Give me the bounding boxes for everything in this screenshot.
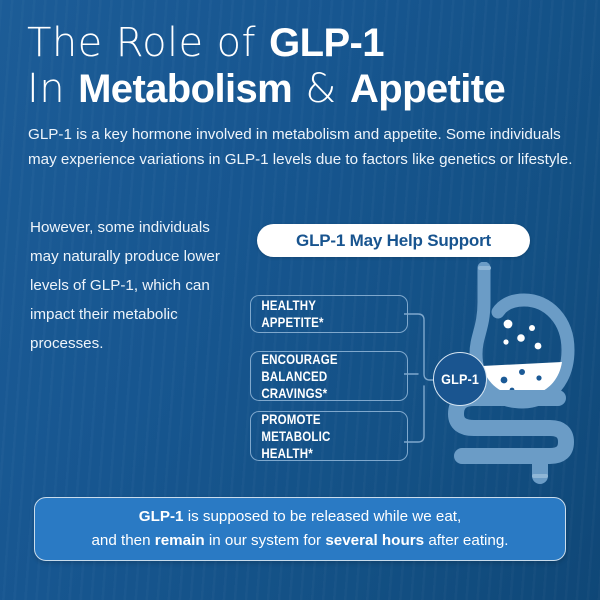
- bubble: [504, 320, 513, 329]
- bubble: [536, 375, 541, 380]
- glp1-node: GLP-1: [433, 352, 487, 406]
- banner-line-2: and then remain in our system for severa…: [91, 529, 508, 553]
- intestines-icon: [456, 398, 566, 478]
- support-header-pill: GLP-1 May Help Support: [257, 224, 530, 257]
- benefit-label: HEALTHY APPETITE*: [251, 297, 385, 331]
- page-title: The Role of GLP-1 In Metabolism & Appeti…: [27, 22, 579, 111]
- banner-line-1-rest: is supposed to be released while we eat,: [183, 508, 461, 525]
- bubble: [529, 325, 535, 331]
- bubble: [510, 388, 515, 393]
- banner-bold-remain: remain: [155, 532, 205, 549]
- title-line-2-thin: In: [27, 66, 78, 112]
- glp1-node-label: GLP-1: [441, 371, 479, 387]
- infographic-poster: The Role of GLP-1 In Metabolism & Appeti…: [0, 0, 600, 600]
- intro-paragraph: GLP-1 is a key hormone involved in metab…: [28, 122, 576, 172]
- bottom-banner: GLP-1 is supposed to be released while w…: [34, 497, 566, 561]
- support-header-label: GLP-1 May Help Support: [296, 231, 491, 251]
- banner-line-1: GLP-1 is supposed to be released while w…: [139, 505, 462, 529]
- title-line-2: In Metabolism & Appetite: [27, 68, 579, 110]
- title-line-2-bold-metabolism: Metabolism: [78, 67, 292, 111]
- bubble: [501, 377, 508, 384]
- title-line-2-ampersand: &: [292, 66, 350, 112]
- bubble: [503, 339, 508, 344]
- bubble: [519, 369, 525, 375]
- banner-line-2-a: and then: [91, 532, 154, 549]
- title-line-1: The Role of GLP-1: [27, 22, 579, 64]
- benefit-box-encourage-balanced-cravings: ENCOURAGE BALANCED CRAVINGS*: [250, 351, 408, 401]
- title-line-1-bold: GLP-1: [269, 21, 384, 65]
- banner-bold-glp1: GLP-1: [139, 508, 184, 525]
- banner-line-2-b: in our system for: [205, 532, 326, 549]
- benefit-label: ENCOURAGE BALANCED CRAVINGS*: [251, 351, 385, 402]
- bubble: [535, 343, 542, 350]
- benefit-label: PROMOTE METABOLIC HEALTH*: [251, 411, 385, 462]
- benefit-box-healthy-appetite: HEALTHY APPETITE*: [250, 295, 408, 333]
- bubble: [517, 334, 525, 342]
- title-line-2-bold-appetite: Appetite: [350, 67, 505, 111]
- title-line-1-thin: The Role of: [27, 20, 269, 66]
- banner-line-2-c: after eating.: [424, 532, 508, 549]
- left-column-paragraph: However, some individuals may naturally …: [30, 213, 235, 358]
- banner-bold-several-hours: several hours: [325, 532, 424, 549]
- stomach-icon: [476, 266, 568, 402]
- benefit-box-promote-metabolic-health: PROMOTE METABOLIC HEALTH*: [250, 411, 408, 461]
